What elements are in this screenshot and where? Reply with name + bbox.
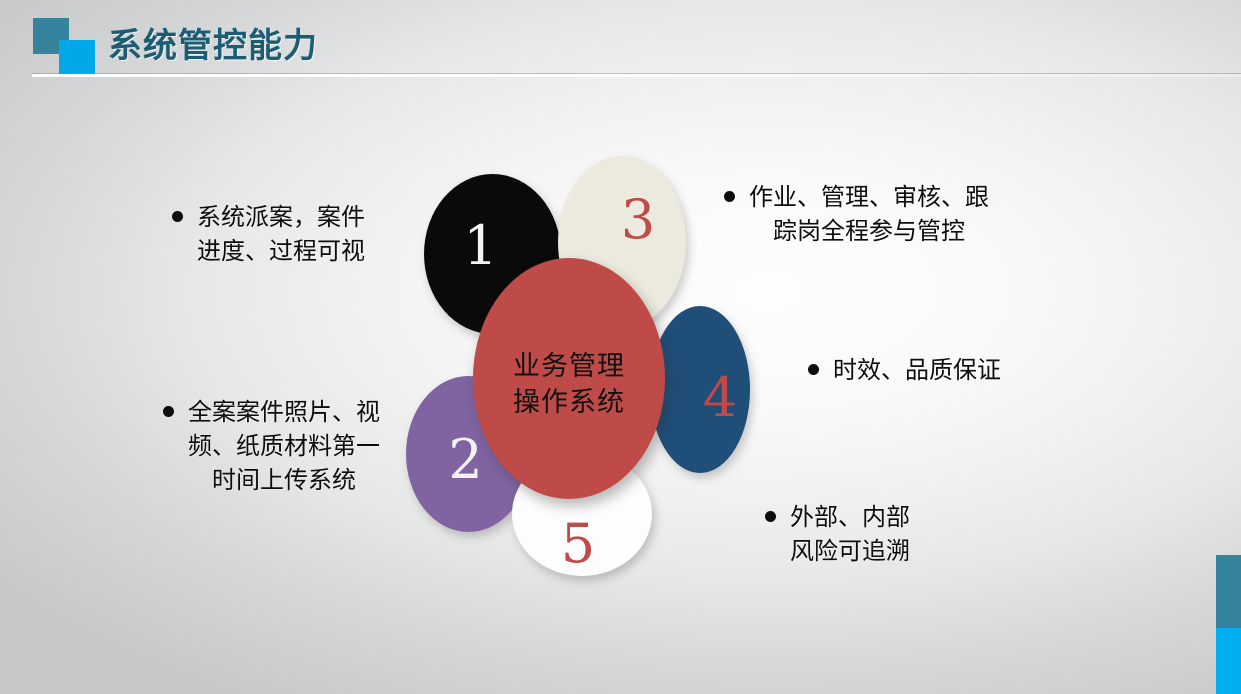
center-label: 业务管理 操作系统 (513, 349, 625, 421)
center-label-line-2: 操作系统 (513, 385, 625, 421)
petal-3-number: 3 (621, 193, 655, 247)
petal-1-number: 1 (463, 219, 497, 273)
callout-3: 作业、管理、审核、跟 踪岗全程参与管控 (724, 180, 1044, 248)
callout-5-text: 外部、内部 风险可追溯 (790, 500, 910, 568)
callout-2-text: 全案案件照片、视 频、纸质材料第一 时间上传系统 (188, 395, 380, 497)
bullet-dot-icon (172, 211, 183, 222)
callout-2: 全案案件照片、视 频、纸质材料第一 时间上传系统 (163, 395, 417, 497)
petal-4[interactable]: 4 (650, 306, 750, 473)
edge-bar-bottom (1216, 628, 1241, 694)
bullet-dot-icon (765, 511, 776, 522)
callout-1: 系统派案，案件 进度、过程可视 (172, 200, 412, 268)
petal-4-number: 4 (703, 371, 737, 425)
callout-4-text: 时效、品质保证 (833, 353, 1001, 387)
callout-3-text: 作业、管理、审核、跟 踪岗全程参与管控 (749, 180, 989, 248)
slide: 系统管控能力 1 3 4 2 5 业务管理 操作系统 系统派案，案件 进度、过 (0, 0, 1241, 694)
bullet-dot-icon (808, 364, 819, 375)
edge-bar-top (1216, 555, 1241, 628)
callout-1-text: 系统派案，案件 进度、过程可视 (197, 200, 365, 268)
callout-5: 外部、内部 风险可追溯 (765, 500, 985, 568)
petal-2-number: 2 (448, 433, 482, 487)
bullet-dot-icon (163, 406, 174, 417)
center-ellipse[interactable]: 业务管理 操作系统 (473, 258, 665, 499)
center-label-line-1: 业务管理 (513, 349, 625, 385)
bullet-dot-icon (724, 191, 735, 202)
petal-diagram: 1 3 4 2 5 业务管理 操作系统 (0, 0, 1241, 694)
petal-5-number: 5 (561, 517, 595, 571)
callout-4: 时效、品质保证 (808, 353, 1038, 387)
